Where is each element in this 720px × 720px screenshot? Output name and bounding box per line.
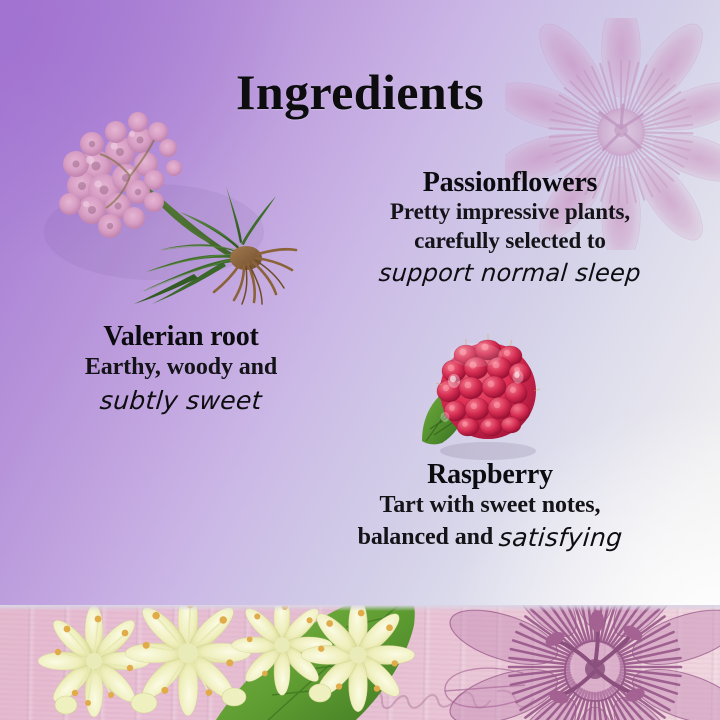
passionflower-engraving-image: [430, 605, 720, 720]
page-title: Ingredients: [0, 63, 720, 121]
ingredient-heading-valerian-root: Valerian root: [16, 322, 346, 351]
ingredient-line-valerian-root-1: Earthy, woody and: [16, 354, 346, 382]
ingredient-script-line-passionflowers: support normal sleep: [330, 259, 690, 287]
ingredient-script-raspberry: satisfying: [498, 523, 624, 552]
strip-top-blend: [0, 605, 720, 611]
ingredients-poster: Ingredients Passionflowers Pretty impres…: [0, 0, 720, 720]
ingredient-line-raspberry-2: balanced and satisfying: [310, 523, 670, 552]
ingredient-line-raspberry-1: Tart with sweet notes,: [310, 492, 670, 520]
ingredient-line-passionflowers-2: carefully selected to: [330, 228, 690, 255]
ingredient-script-passionflowers: support normal sleep: [378, 259, 642, 287]
bottom-photo-strip: [0, 605, 720, 720]
ingredient-line-passionflowers-1: Pretty impressive plants,: [330, 199, 690, 226]
ingredient-script-line-valerian-root: subtly sweet: [16, 386, 346, 415]
ingredient-block-valerian-root: Valerian root Earthy, woody and subtly s…: [16, 322, 346, 415]
ingredient-block-raspberry: Raspberry Tart with sweet notes, balance…: [310, 460, 670, 552]
ingredient-heading-raspberry: Raspberry: [310, 460, 670, 489]
ingredient-inline-prefix-raspberry: balanced and: [358, 524, 499, 550]
raspberry-image: [408, 325, 560, 465]
linden-blossom-image: [20, 605, 420, 720]
ingredient-heading-passionflowers: Passionflowers: [330, 168, 690, 197]
ingredient-script-valerian-root: subtly sweet: [99, 386, 263, 415]
ingredient-block-passionflowers: Passionflowers Pretty impressive plants,…: [330, 168, 690, 287]
valerian-plant-image: [34, 92, 302, 307]
